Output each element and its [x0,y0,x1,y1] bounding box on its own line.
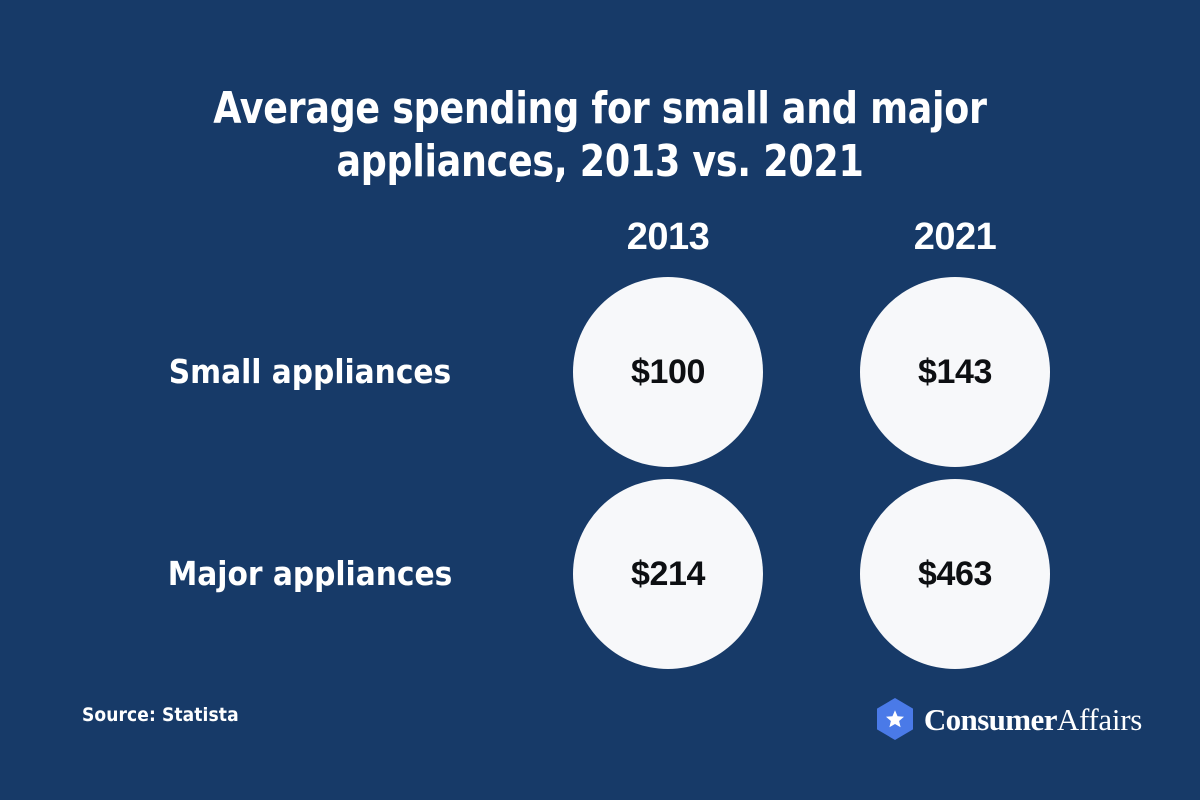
bubble-value: $100 [631,355,705,389]
logo-word-consumer: Consumer [924,704,1057,735]
bubble-value: $463 [918,557,992,591]
bubble-value: $214 [631,557,705,591]
bubble-small-2021: $143 [860,277,1050,467]
source-note: Source: Statista [82,703,239,727]
row-label-major-appliances: Major appliances [100,554,520,594]
row-label-small-appliances: Small appliances [100,352,520,392]
logo-wordmark: Consumer Affairs [924,704,1142,735]
bubble-value: $143 [918,355,992,389]
bubble-small-2013: $100 [573,277,763,467]
hexagon-star-icon [875,697,915,741]
logo-word-affairs: Affairs [1057,704,1142,735]
infographic-canvas: Average spending for small and major app… [0,0,1200,800]
consumeraffairs-logo: Consumer Affairs [875,696,1142,742]
bubble-matrix: 2013 2021 Small appliances Major applian… [0,0,1200,800]
bubble-major-2013: $214 [573,479,763,669]
column-header-2021: 2021 [860,214,1050,260]
column-header-2013: 2013 [573,214,763,260]
bubble-major-2021: $463 [860,479,1050,669]
